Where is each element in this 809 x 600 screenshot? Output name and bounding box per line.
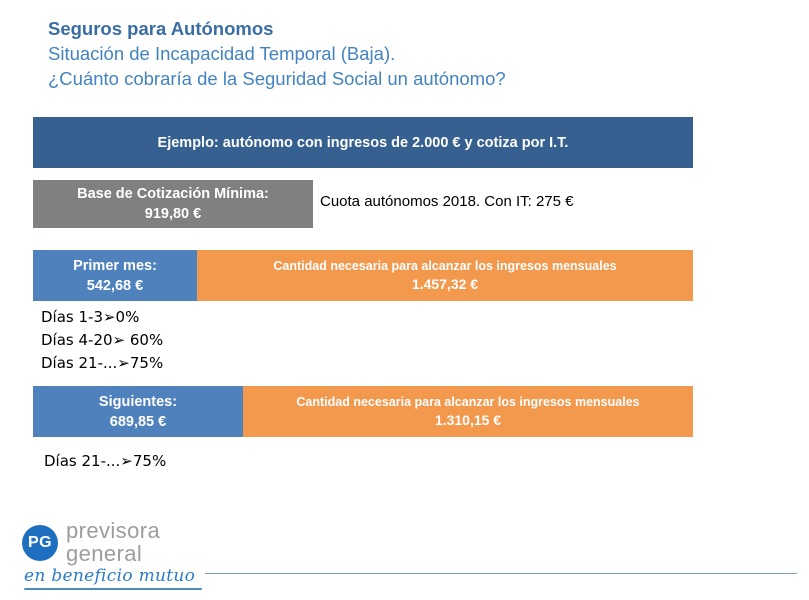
example-banner-text: Ejemplo: autónomo con ingresos de 2.000 … — [158, 135, 569, 151]
logo-underline-rule — [24, 588, 202, 590]
page-title: Seguros para Autónomos Situación de Inca… — [48, 16, 748, 91]
days-note-line: Días 1-3➢0% — [41, 306, 163, 329]
title-line-primary: Seguros para Autónomos — [48, 16, 748, 41]
primer-mes-gap-value: 1.457,32 € — [412, 275, 478, 294]
siguientes-gap-box: Cantidad necesaria para alcanzar los ing… — [243, 386, 693, 437]
cuota-autonomos-note: Cuota autónomos 2018. Con IT: 275 € — [320, 193, 574, 210]
company-logo: PG previsora general en beneficio mutuo — [22, 522, 212, 588]
logo-tagline: en beneficio mutuo — [24, 568, 195, 585]
logo-badge-text: PG — [28, 534, 52, 552]
logo-wordmark-line2: general — [66, 543, 160, 565]
siguientes-value: 689,85 € — [110, 412, 166, 432]
days-note-line: Días 21-...➢75% — [41, 352, 163, 375]
base-cotizacion-label: Base de Cotización Mínima: — [77, 184, 269, 204]
base-cotizacion-value: 919,80 € — [145, 204, 201, 224]
days-note-line: Días 4-20➢ 60% — [41, 329, 163, 352]
title-line-secondary: Situación de Incapacidad Temporal (Baja)… — [48, 41, 748, 66]
siguientes-label: Siguientes: — [99, 392, 177, 412]
days-note-primer-mes: Días 1-3➢0% Días 4-20➢ 60% Días 21-...➢7… — [41, 306, 163, 375]
logo-wordmark-line1: previsora — [66, 520, 160, 542]
siguientes-gap-caption: Cantidad necesaria para alcanzar los ing… — [296, 393, 639, 411]
example-banner: Ejemplo: autónomo con ingresos de 2.000 … — [33, 117, 693, 168]
primer-mes-label: Primer mes: — [73, 256, 157, 276]
primer-mes-value: 542,68 € — [87, 276, 143, 296]
primer-mes-amount-box: Primer mes: 542,68 € — [33, 250, 197, 301]
primer-mes-gap-caption: Cantidad necesaria para alcanzar los ing… — [273, 257, 616, 275]
logo-wordmark: previsora general — [66, 520, 160, 565]
base-cotizacion-box: Base de Cotización Mínima: 919,80 € — [33, 180, 313, 228]
siguientes-gap-value: 1.310,15 € — [435, 411, 501, 430]
footer-divider — [205, 573, 797, 574]
row-primer-mes: Primer mes: 542,68 € Cantidad necesaria … — [33, 250, 693, 301]
siguientes-amount-box: Siguientes: 689,85 € — [33, 386, 243, 437]
days-note-line: Días 21-...➢75% — [44, 450, 166, 473]
days-note-siguientes: Días 21-...➢75% — [44, 450, 166, 473]
slide-canvas: Seguros para Autónomos Situación de Inca… — [0, 0, 809, 600]
row-siguientes: Siguientes: 689,85 € Cantidad necesaria … — [33, 386, 693, 437]
primer-mes-gap-box: Cantidad necesaria para alcanzar los ing… — [197, 250, 693, 301]
logo-badge-icon: PG — [22, 525, 58, 561]
title-line-question: ¿Cuánto cobraría de la Seguridad Social … — [48, 66, 748, 91]
